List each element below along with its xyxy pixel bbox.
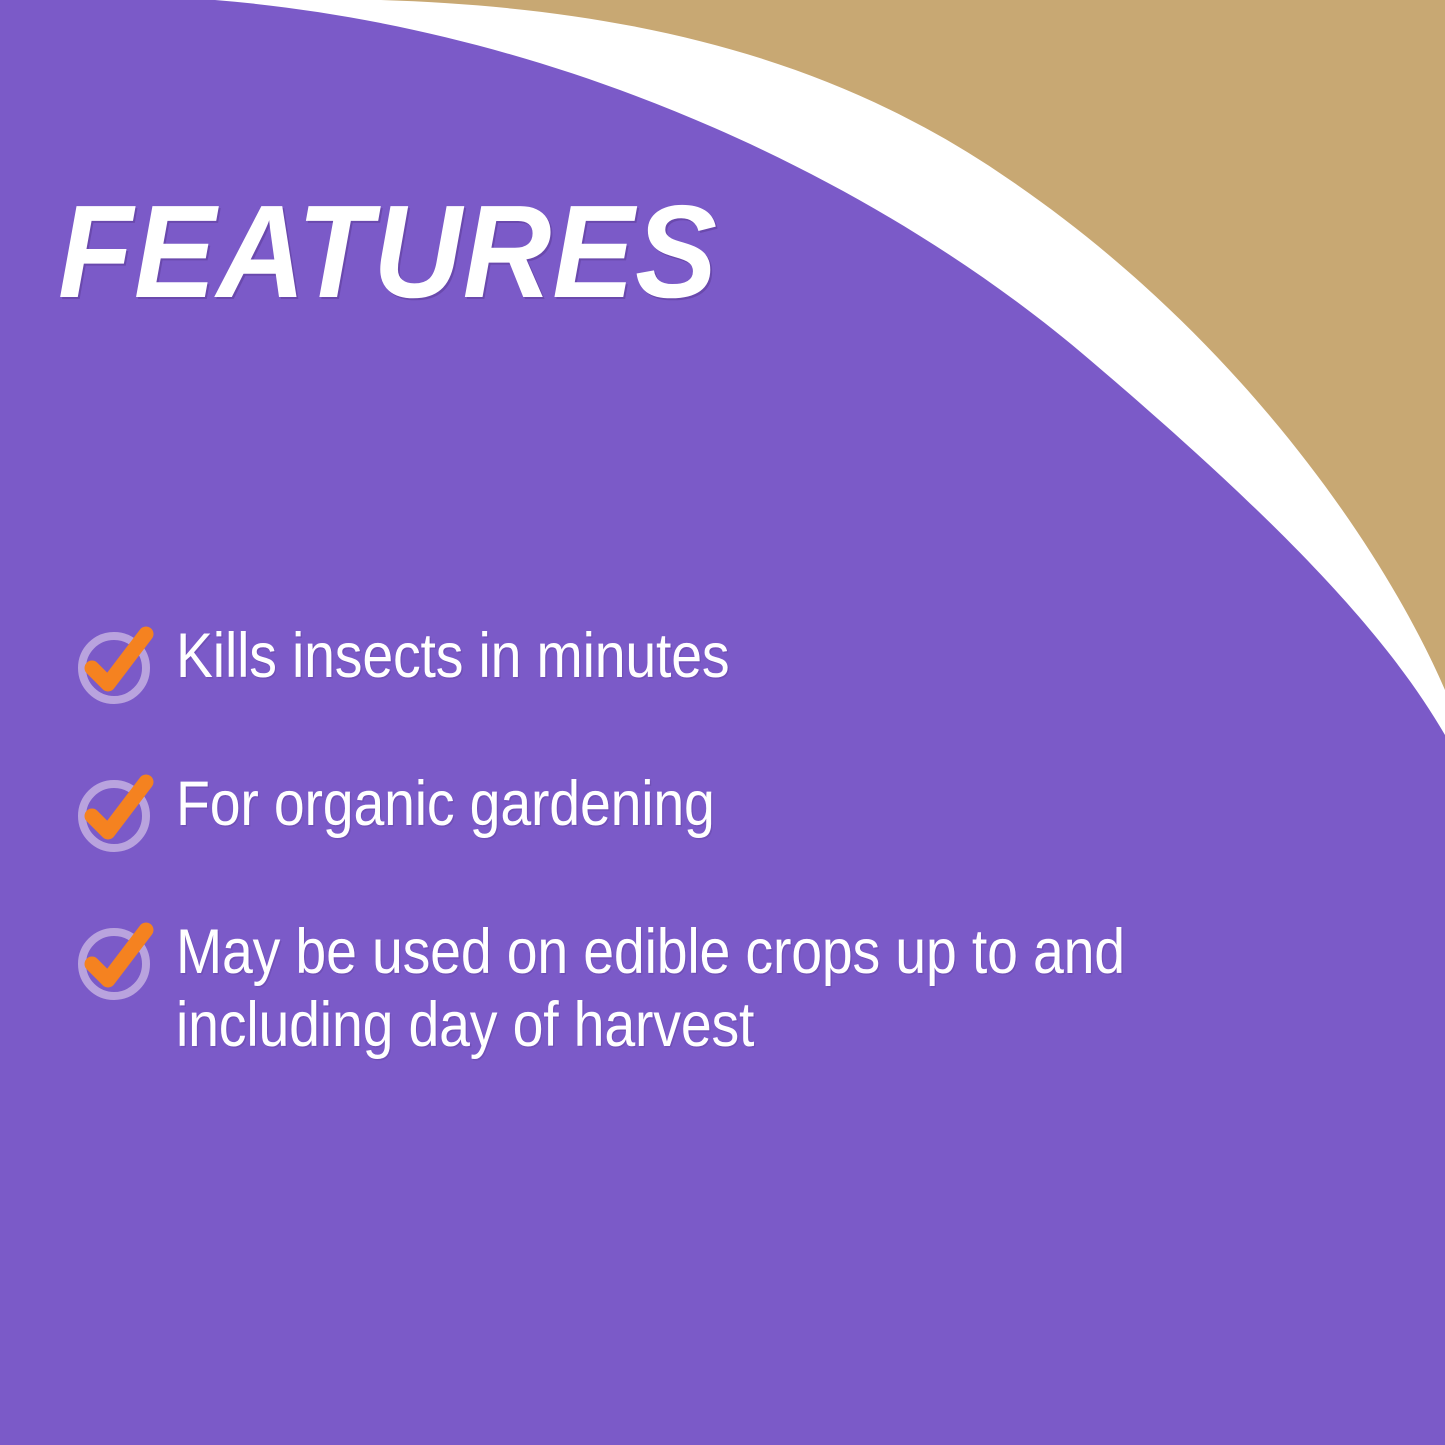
feature-text: For organic gardening xyxy=(176,768,1230,841)
orange-check-in-circle-icon xyxy=(74,774,160,854)
feature-text: Kills insects in minutes xyxy=(176,620,1230,693)
orange-check-in-circle-icon xyxy=(74,922,160,1002)
features-graphic: FEATURES Kills insects in minutes xyxy=(0,0,1445,1445)
page-title: FEATURES xyxy=(58,186,718,318)
list-item: May be used on edible crops up to and in… xyxy=(74,916,1374,1062)
list-item: For organic gardening xyxy=(74,768,1374,854)
feature-line: Kills insects in minutes xyxy=(176,620,1230,693)
feature-line: May be used on edible crops up to and xyxy=(176,916,1230,989)
feature-line: For organic gardening xyxy=(176,768,1230,841)
feature-line: including day of harvest xyxy=(176,989,1230,1062)
feature-text: May be used on edible crops up to and in… xyxy=(176,916,1230,1062)
features-list: Kills insects in minutes For organic gar… xyxy=(74,620,1374,1062)
list-item: Kills insects in minutes xyxy=(74,620,1374,706)
orange-check-in-circle-icon xyxy=(74,626,160,706)
